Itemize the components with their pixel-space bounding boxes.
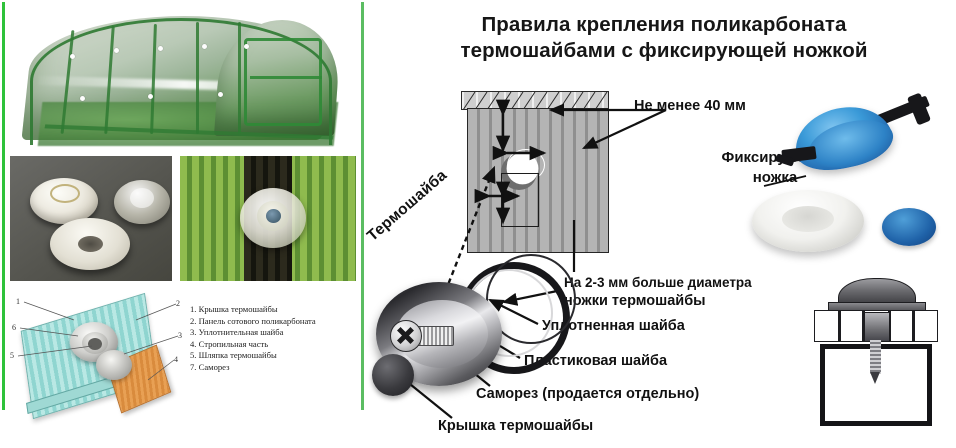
legend-item: 2. Панель сотового поликарбоната bbox=[190, 316, 358, 328]
greenhouse-door bbox=[244, 38, 322, 126]
callout-4: 4 bbox=[174, 355, 178, 364]
xsec-sheet-rib bbox=[912, 311, 915, 341]
fixing-leg-illustration bbox=[736, 104, 954, 264]
thermal-washer-point bbox=[80, 96, 85, 101]
infographic-root: 1 6 5 2 3 4 1. Крышка термошайбы 2. Пане… bbox=[0, 0, 956, 448]
callout-1: 1 bbox=[16, 297, 20, 306]
frame-rib bbox=[196, 22, 199, 134]
legend-list: 1. Крышка термошайбы 2. Панель сотового … bbox=[190, 304, 358, 374]
thermal-washer-point bbox=[70, 54, 75, 59]
callout-6: 6 bbox=[12, 323, 16, 332]
xsec-sheet-rib bbox=[838, 311, 841, 341]
callout-3: 3 bbox=[178, 331, 182, 340]
washer-cap-object bbox=[372, 354, 414, 396]
sealing-washer-3d bbox=[96, 350, 132, 380]
washer-cap-ring bbox=[50, 184, 80, 203]
greenhouse-structure bbox=[22, 14, 344, 142]
thermal-washer-point bbox=[148, 94, 153, 99]
callout-5: 5 bbox=[10, 351, 14, 360]
xsec-screw-tip bbox=[870, 372, 880, 384]
technical-assembly-diagram: 1 6 5 2 3 4 bbox=[8, 288, 184, 410]
page-title: Правила крепления поликарбоната термошай… bbox=[390, 12, 938, 64]
greenhouse-door-rail bbox=[250, 76, 322, 79]
greenhouse-frame bbox=[22, 14, 344, 142]
hole-clearance-rect bbox=[501, 173, 539, 227]
cross-section-diagram bbox=[808, 278, 940, 430]
legend-item: 7. Саморез bbox=[190, 362, 358, 374]
washer-installed-photo bbox=[180, 156, 356, 281]
hole-size-line2: ножки термошайбы bbox=[564, 293, 706, 309]
label-min-distance: Не менее 40 мм bbox=[634, 98, 746, 114]
blue-washer-cap bbox=[882, 208, 936, 246]
label-hole-size: На 2-3 мм больше диаметра ножки термошай… bbox=[564, 274, 752, 310]
xsec-washer-leg bbox=[864, 312, 890, 342]
xsec-screw bbox=[870, 340, 881, 374]
parts-legend: 1. Крышка термошайбы 2. Панель сотового … bbox=[190, 304, 358, 374]
left-photo-panel: 1 6 5 2 3 4 1. Крышка термошайбы 2. Пане… bbox=[0, 0, 364, 412]
frame-rib bbox=[238, 22, 241, 134]
thermal-washer-point bbox=[218, 92, 223, 97]
legend-item: 1. Крышка термошайбы bbox=[190, 304, 358, 316]
thermal-washer-point bbox=[114, 48, 119, 53]
title-line-2: термошайбами с фиксирующей ножкой bbox=[390, 38, 938, 64]
panel-border-right bbox=[361, 2, 364, 410]
foam-ring-hole bbox=[78, 236, 103, 252]
screw-head-blue-group bbox=[907, 92, 931, 125]
label-washer-cap: Крышка термошайбы bbox=[438, 418, 593, 434]
installed-screw-head bbox=[266, 209, 281, 223]
washer-center-3d bbox=[88, 338, 102, 350]
polycarbonate-sheet-diagram bbox=[461, 91, 609, 253]
thermal-washer-point bbox=[158, 46, 163, 51]
thermal-washer-point bbox=[244, 44, 249, 49]
right-diagram-panel: Правила крепления поликарбоната термошай… bbox=[366, 0, 956, 448]
legend-item: 3. Уплотнительная шайба bbox=[190, 327, 358, 339]
thermal-washer-point bbox=[202, 44, 207, 49]
thermal-washer-illustration bbox=[366, 268, 536, 403]
label-thermal-washer: Термошайба bbox=[364, 160, 459, 246]
washer-parts-photo bbox=[10, 156, 172, 281]
white-foam-ring-hole bbox=[782, 206, 834, 232]
panel-border-left bbox=[2, 2, 5, 410]
hole-size-line1: На 2-3 мм больше диаметра bbox=[564, 275, 752, 290]
greenhouse-photo bbox=[8, 4, 356, 150]
legend-item: 4. Стропильная часть bbox=[190, 339, 358, 351]
clear-washer-center bbox=[130, 188, 154, 208]
title-line-1: Правила крепления поликарбоната bbox=[481, 13, 846, 36]
callout-2: 2 bbox=[176, 299, 180, 308]
legend-item: 5. Шляпка термошайбы bbox=[190, 350, 358, 362]
